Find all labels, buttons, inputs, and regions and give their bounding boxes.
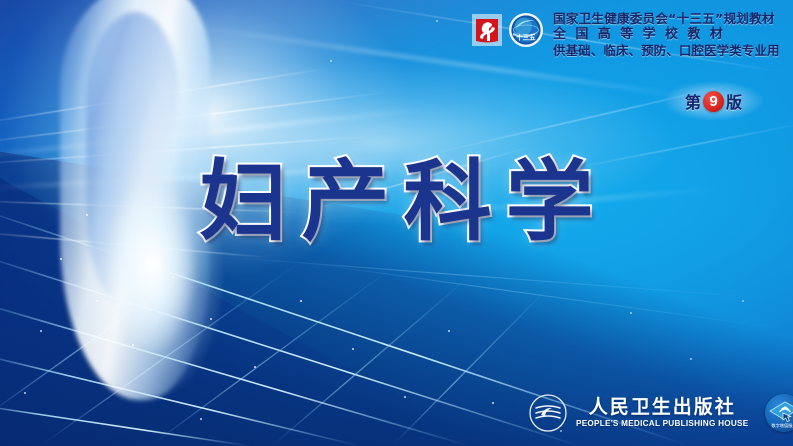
header-text-block: 国家卫生健康委员会“十三五”规划教材 全国高等学校教材 供基础、临床、预防、口腔… [550, 11, 787, 59]
publisher-name: 人民卫生出版社 PEOPLE'S MEDICAL PUBLISHING HOUS… [576, 397, 748, 429]
shisanwu-globe-logo-icon: 十三五 [508, 12, 544, 48]
digital-interactive-reading-icon: 数字增值服务 [765, 394, 793, 432]
edition-suffix: 版 [726, 89, 742, 113]
cover-header: 十三五 国家卫生健康委员会“十三五”规划教材 全国高等学校教材 供基础、临床、预… [472, 11, 787, 59]
edition-badge: 第 9 版 [676, 86, 751, 116]
edition-number: 9 [703, 91, 724, 112]
header-line-2: 全国高等学校教材 [553, 27, 787, 43]
svg-text:十三五: 十三五 [516, 33, 536, 42]
people-publishing-red-logo-icon [472, 14, 502, 46]
page-title: 妇产科学 [0, 156, 793, 248]
publisher-name-en: PEOPLE'S MEDICAL PUBLISHING HOUSE [576, 418, 748, 429]
publisher-name-cn: 人民卫生出版社 [589, 397, 736, 418]
publisher-block: 人民卫生出版社 PEOPLE'S MEDICAL PUBLISHING HOUS… [528, 393, 793, 433]
edition-prefix: 第 [685, 89, 701, 113]
slide-canvas: 十三五 国家卫生健康委员会“十三五”规划教材 全国高等学校教材 供基础、临床、预… [0, 0, 793, 446]
header-line-1: 国家卫生健康委员会“十三五”规划教材 [553, 11, 787, 27]
header-line-3: 供基础、临床、预防、口腔医学类专业用 [553, 43, 787, 59]
pmph-emblem-icon [528, 393, 568, 433]
digital-badge-label: 数字增值服务 [772, 422, 793, 429]
